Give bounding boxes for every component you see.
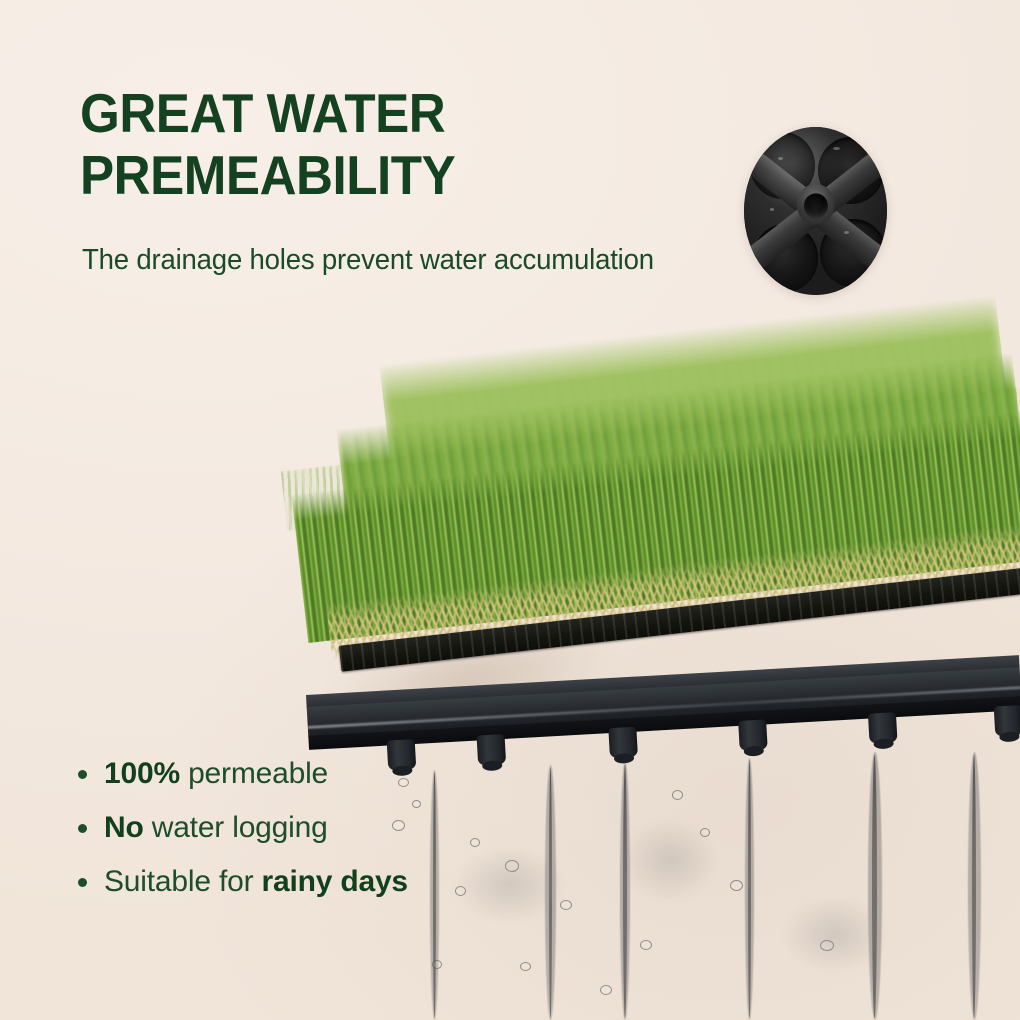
base-peg-foot <box>738 719 768 751</box>
drainage-hole-closeup-inset <box>744 127 887 295</box>
page-title: GREAT WATER PREMEABILITY <box>80 82 712 206</box>
bullet-bold-lead: 100% <box>104 757 180 790</box>
bullet-bold-tail: rainy days <box>262 865 408 898</box>
base-peg-foot <box>608 727 638 759</box>
turf-slab <box>260 294 1020 695</box>
list-item: Suitable for rainy days <box>74 865 504 899</box>
list-item: 100% permeable <box>74 757 504 791</box>
product-feature-image: GREAT WATER PREMEABILITY The drainage ho… <box>0 0 1020 1020</box>
bullet-text: permeable <box>180 757 328 790</box>
bullet-text: water logging <box>144 811 328 844</box>
bullet-dot-icon <box>78 878 87 887</box>
subtitle: The drainage holes prevent water accumul… <box>82 243 747 277</box>
bullet-dot-icon <box>78 770 87 779</box>
feature-bullet-list: 100% permeable No water logging Suitable… <box>74 757 504 899</box>
bullet-dot-icon <box>78 824 87 833</box>
base-peg-foot <box>868 712 898 744</box>
list-item: No water logging <box>74 811 504 845</box>
plastic-sheen <box>744 127 887 295</box>
bullet-bold-lead: No <box>104 811 144 844</box>
bullet-text: Suitable for <box>104 865 262 898</box>
base-peg-foot <box>994 705 1020 737</box>
